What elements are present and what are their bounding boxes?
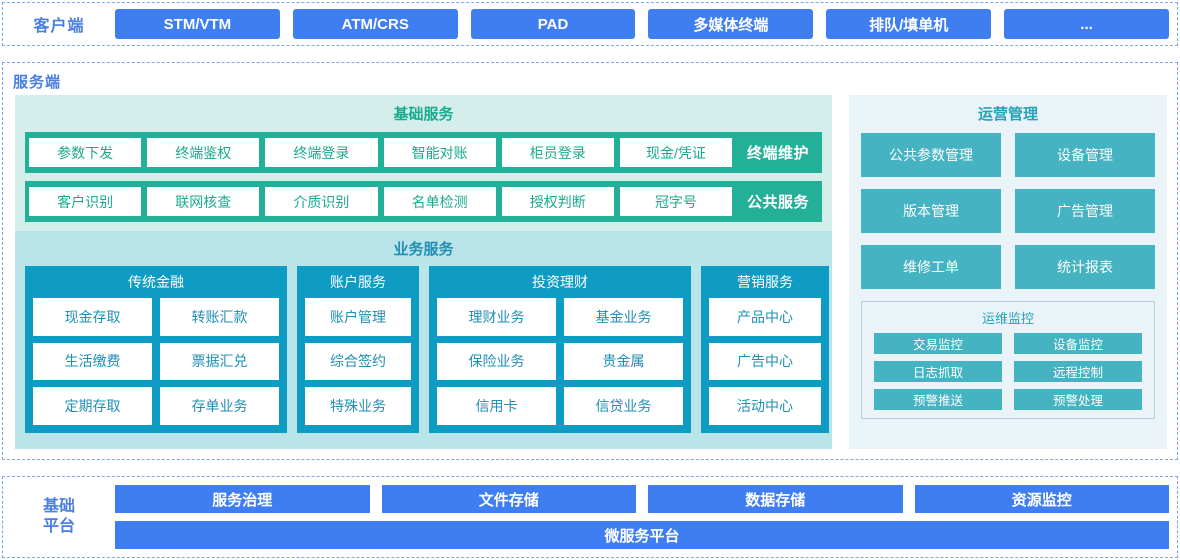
ops-monitor-item-3[interactable]: 远程控制 [1014,361,1142,382]
basic-service-item-0-3[interactable]: 智能对账 [384,138,496,167]
business-item-2-0[interactable]: 理财业务 [437,298,556,336]
business-item-3-0[interactable]: 产品中心 [709,298,821,336]
server-section: 服务端 基础服务 参数下发终端鉴权终端登录智能对账柜员登录现金/凭证终端维护客户… [2,62,1178,460]
basic-service-item-1-2[interactable]: 介质识别 [265,187,377,216]
business-item-1-2[interactable]: 特殊业务 [305,387,411,425]
basic-service-item-0-0[interactable]: 参数下发 [29,138,141,167]
business-services-panel: 业务服务 传统金融现金存取转账汇款生活缴费票据汇兑定期存取存单业务账户服务账户管… [15,231,832,449]
basic-services-title: 基础服务 [25,103,822,124]
basic-services-row-tag-1: 公共服务 [738,191,818,212]
ops-monitor-item-5[interactable]: 预警处理 [1014,389,1142,410]
server-body: 基础服务 参数下发终端鉴权终端登录智能对账柜员登录现金/凭证终端维护客户识别联网… [15,95,1167,449]
business-column-title-2: 投资理财 [437,272,683,292]
basic-service-item-0-4[interactable]: 柜员登录 [502,138,614,167]
client-tab-4[interactable]: 排队/填单机 [826,9,991,39]
ops-monitor-item-4[interactable]: 预警推送 [874,389,1002,410]
business-item-3-1[interactable]: 广告中心 [709,343,821,381]
client-tab-0[interactable]: STM/VTM [115,9,280,39]
business-column-2: 投资理财理财业务基金业务保险业务贵金属信用卡信贷业务 [429,266,691,433]
client-tab-5[interactable]: ... [1004,9,1169,39]
ops-item-1[interactable]: 设备管理 [1015,133,1155,177]
business-column-grid-1: 账户管理综合签约特殊业务 [305,298,411,425]
ops-management-grid: 公共参数管理设备管理版本管理广告管理维修工单统计报表 [861,133,1155,289]
business-item-1-1[interactable]: 综合签约 [305,343,411,381]
client-section: 客户端 STM/VTMATM/CRSPAD多媒体终端排队/填单机... [2,2,1178,46]
ops-monitor-item-1[interactable]: 设备监控 [1014,333,1142,354]
platform-microservice-button[interactable]: 微服务平台 [115,521,1169,549]
client-section-label: 客户端 [3,12,115,36]
ops-monitor-item-2[interactable]: 日志抓取 [874,361,1002,382]
ops-item-3[interactable]: 广告管理 [1015,189,1155,233]
business-item-2-3[interactable]: 贵金属 [564,343,683,381]
basic-service-item-0-5[interactable]: 现金/凭证 [620,138,732,167]
client-tab-list: STM/VTMATM/CRSPAD多媒体终端排队/填单机... [115,9,1177,39]
business-item-2-2[interactable]: 保险业务 [437,343,556,381]
basic-services-panel: 基础服务 参数下发终端鉴权终端登录智能对账柜员登录现金/凭证终端维护客户识别联网… [15,95,832,231]
business-item-0-5[interactable]: 存单业务 [160,387,279,425]
business-item-3-2[interactable]: 活动中心 [709,387,821,425]
business-item-0-2[interactable]: 生活缴费 [33,343,152,381]
ops-monitor-item-0[interactable]: 交易监控 [874,333,1002,354]
platform-bottom-row: 微服务平台 [115,521,1169,549]
architecture-diagram: 客户端 STM/VTMATM/CRSPAD多媒体终端排队/填单机... 服务端 … [0,0,1180,560]
ops-item-5[interactable]: 统计报表 [1015,245,1155,289]
platform-item-3[interactable]: 资源监控 [915,485,1170,513]
platform-section: 基础 平台 服务治理文件存储数据存储资源监控 微服务平台 [2,476,1178,558]
business-column-grid-0: 现金存取转账汇款生活缴费票据汇兑定期存取存单业务 [33,298,279,425]
business-column-title-3: 营销服务 [709,272,821,292]
basic-service-item-1-5[interactable]: 冠字号 [620,187,732,216]
platform-item-2[interactable]: 数据存储 [648,485,903,513]
ops-item-0[interactable]: 公共参数管理 [861,133,1001,177]
basic-service-item-1-3[interactable]: 名单检测 [384,187,496,216]
business-item-0-1[interactable]: 转账汇款 [160,298,279,336]
platform-item-1[interactable]: 文件存储 [382,485,637,513]
basic-services-rows: 参数下发终端鉴权终端登录智能对账柜员登录现金/凭证终端维护客户识别联网核查介质识… [25,132,822,222]
platform-body: 服务治理文件存储数据存储资源监控 微服务平台 [115,485,1177,549]
platform-label-line1: 基础 [3,497,115,517]
services-column: 基础服务 参数下发终端鉴权终端登录智能对账柜员登录现金/凭证终端维护客户识别联网… [15,95,832,449]
business-column-grid-2: 理财业务基金业务保险业务贵金属信用卡信贷业务 [437,298,683,425]
ops-management-title: 运营管理 [861,103,1155,124]
ops-monitor-panel: 运维监控 交易监控设备监控日志抓取远程控制预警推送预警处理 [861,301,1155,419]
ops-management-panel: 运营管理 公共参数管理设备管理版本管理广告管理维修工单统计报表 运维监控 交易监… [849,95,1167,449]
client-tab-1[interactable]: ATM/CRS [293,9,458,39]
server-section-label: 服务端 [13,71,61,92]
business-services-title: 业务服务 [25,238,822,259]
business-services-columns: 传统金融现金存取转账汇款生活缴费票据汇兑定期存取存单业务账户服务账户管理综合签约… [25,266,822,433]
basic-service-item-0-2[interactable]: 终端登录 [265,138,377,167]
platform-top-row: 服务治理文件存储数据存储资源监控 [115,485,1169,513]
business-item-1-0[interactable]: 账户管理 [305,298,411,336]
platform-section-label: 基础 平台 [3,497,115,537]
basic-services-row-1: 客户识别联网核查介质识别名单检测授权判断冠字号公共服务 [25,181,822,222]
basic-service-item-1-1[interactable]: 联网核查 [147,187,259,216]
business-column-0: 传统金融现金存取转账汇款生活缴费票据汇兑定期存取存单业务 [25,266,287,433]
basic-service-item-0-1[interactable]: 终端鉴权 [147,138,259,167]
business-column-1: 账户服务账户管理综合签约特殊业务 [297,266,419,433]
ops-monitor-grid: 交易监控设备监控日志抓取远程控制预警推送预警处理 [874,333,1142,410]
business-item-0-4[interactable]: 定期存取 [33,387,152,425]
basic-service-item-1-0[interactable]: 客户识别 [29,187,141,216]
business-column-grid-3: 产品中心广告中心活动中心 [709,298,821,425]
business-item-2-5[interactable]: 信贷业务 [564,387,683,425]
business-column-title-0: 传统金融 [33,272,279,292]
platform-label-line2: 平台 [3,517,115,537]
basic-services-row-tag-0: 终端维护 [738,142,818,163]
client-tab-3[interactable]: 多媒体终端 [648,9,813,39]
business-item-2-1[interactable]: 基金业务 [564,298,683,336]
ops-item-2[interactable]: 版本管理 [861,189,1001,233]
business-item-2-4[interactable]: 信用卡 [437,387,556,425]
basic-service-item-1-4[interactable]: 授权判断 [502,187,614,216]
business-column-title-1: 账户服务 [305,272,411,292]
business-item-0-0[interactable]: 现金存取 [33,298,152,336]
ops-item-4[interactable]: 维修工单 [861,245,1001,289]
ops-monitor-title: 运维监控 [874,308,1142,327]
client-tab-2[interactable]: PAD [471,9,636,39]
business-item-0-3[interactable]: 票据汇兑 [160,343,279,381]
basic-services-row-0: 参数下发终端鉴权终端登录智能对账柜员登录现金/凭证终端维护 [25,132,822,173]
platform-item-0[interactable]: 服务治理 [115,485,370,513]
business-column-3: 营销服务产品中心广告中心活动中心 [701,266,829,433]
